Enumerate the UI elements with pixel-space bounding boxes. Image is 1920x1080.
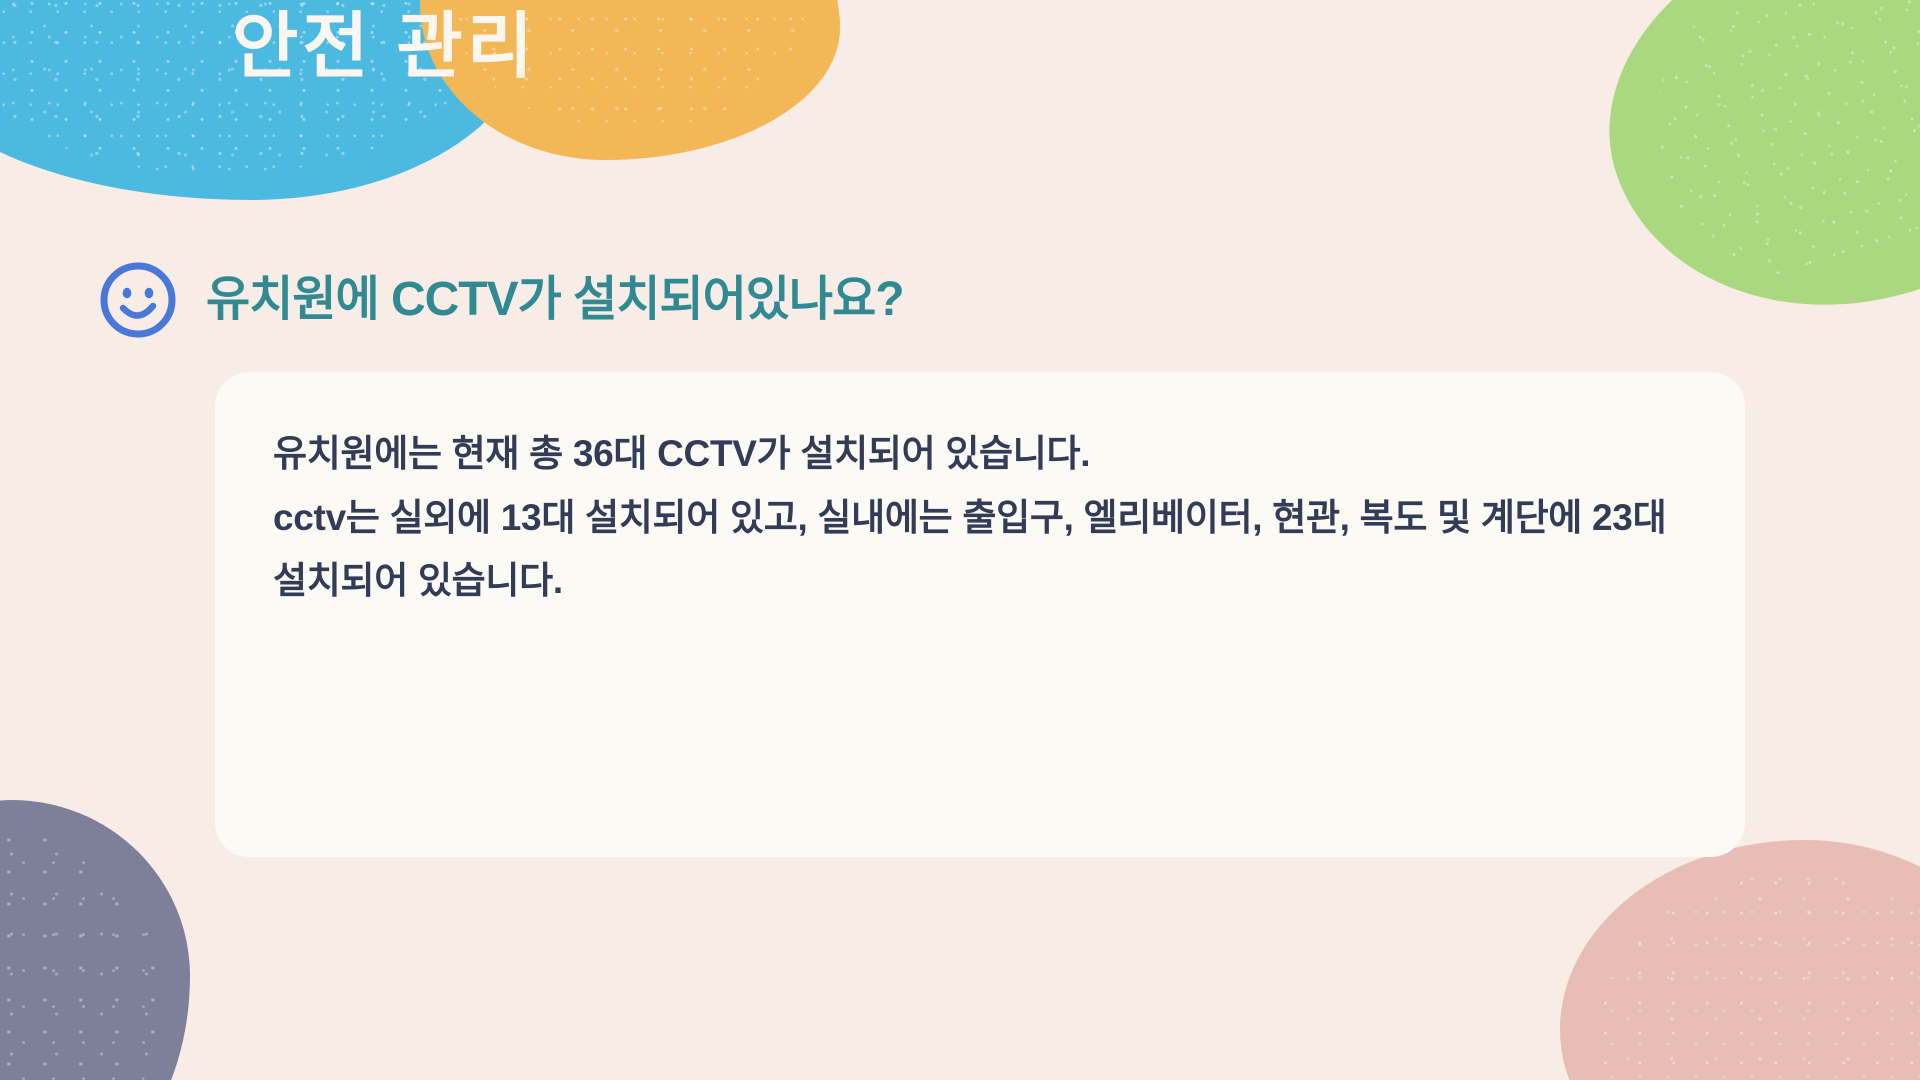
green-brush-blob xyxy=(1562,0,1920,367)
page-title: 안전 관리 xyxy=(232,8,537,87)
smiley-face-icon xyxy=(96,258,180,342)
answer-line-1: 유치원에는 현재 총 36대 CCTV가 설치되어 있습니다. xyxy=(273,422,1687,486)
answer-line-2: cctv는 실외에 13대 설치되어 있고, 실내에는 출입구, 엘리베이터, … xyxy=(273,486,1687,613)
question-text: 유치원에 CCTV가 설치되어있나요? xyxy=(206,272,904,327)
pink-brush-blob xyxy=(1560,840,1920,1080)
gray-brush-blob xyxy=(0,800,190,1080)
answer-body: 유치원에는 현재 총 36대 CCTV가 설치되어 있습니다. cctv는 실외… xyxy=(215,372,1745,613)
answer-card: 유치원에는 현재 총 36대 CCTV가 설치되어 있습니다. cctv는 실외… xyxy=(215,372,1745,857)
question-heading: 유치원에 CCTV가 설치되어있나요? xyxy=(96,258,904,342)
